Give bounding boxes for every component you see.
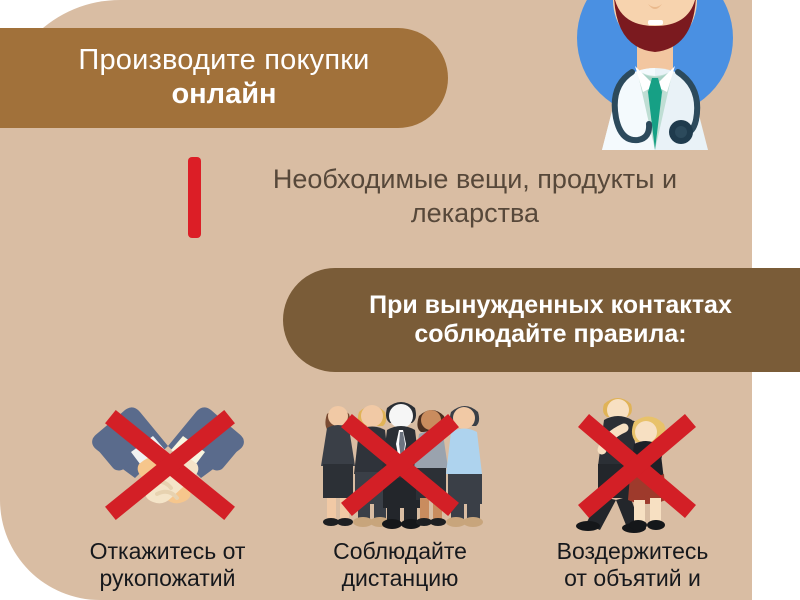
tile3-caption-line1: Воздержитесь	[557, 538, 709, 564]
tile-no-hugs: Воздержитесь от объятий и	[525, 392, 740, 600]
tile1-caption-line1: Откажитесь от	[90, 538, 246, 564]
rules-tiles: Откажитесь от рукопожатий	[60, 392, 740, 600]
tile1-caption-line2: рукопожатий	[99, 565, 235, 591]
doctor-illustration	[540, 0, 770, 150]
banner-rules-line1: При вынужденных контактах	[369, 291, 732, 321]
tile-no-handshake: Откажитесь от рукопожатий	[60, 392, 275, 600]
banner-top-line2: онлайн	[171, 78, 276, 111]
tile-caption: Соблюдайте дистанцию	[293, 538, 508, 592]
no-hugs-icon	[538, 392, 728, 532]
banner-rules: При вынужденных контактах соблюдайте пра…	[283, 268, 800, 372]
tile-keep-distance: Соблюдайте дистанцию	[293, 392, 508, 600]
tile2-caption-line2: дистанцию	[342, 565, 459, 591]
tile-caption: Воздержитесь от объятий и	[525, 538, 740, 592]
banner-top-line1: Производите покупки	[78, 45, 369, 75]
subtitle-text: Необходимые вещи, продукты и лекарства	[215, 163, 735, 231]
no-crowd-icon	[305, 392, 495, 532]
tile-caption: Откажитесь от рукопожатий	[60, 538, 275, 592]
poster-canvas: Производите покупки онлайн Необходимые в…	[0, 0, 800, 600]
tile3-caption-line2: от объятий и	[564, 565, 701, 591]
tile2-caption-line1: Соблюдайте	[333, 538, 467, 564]
banner-shop-online: Производите покупки онлайн	[0, 28, 448, 128]
banner-rules-line2: соблюдайте правила:	[414, 320, 686, 350]
no-handshake-icon	[73, 392, 263, 532]
red-accent-bar	[188, 157, 201, 238]
